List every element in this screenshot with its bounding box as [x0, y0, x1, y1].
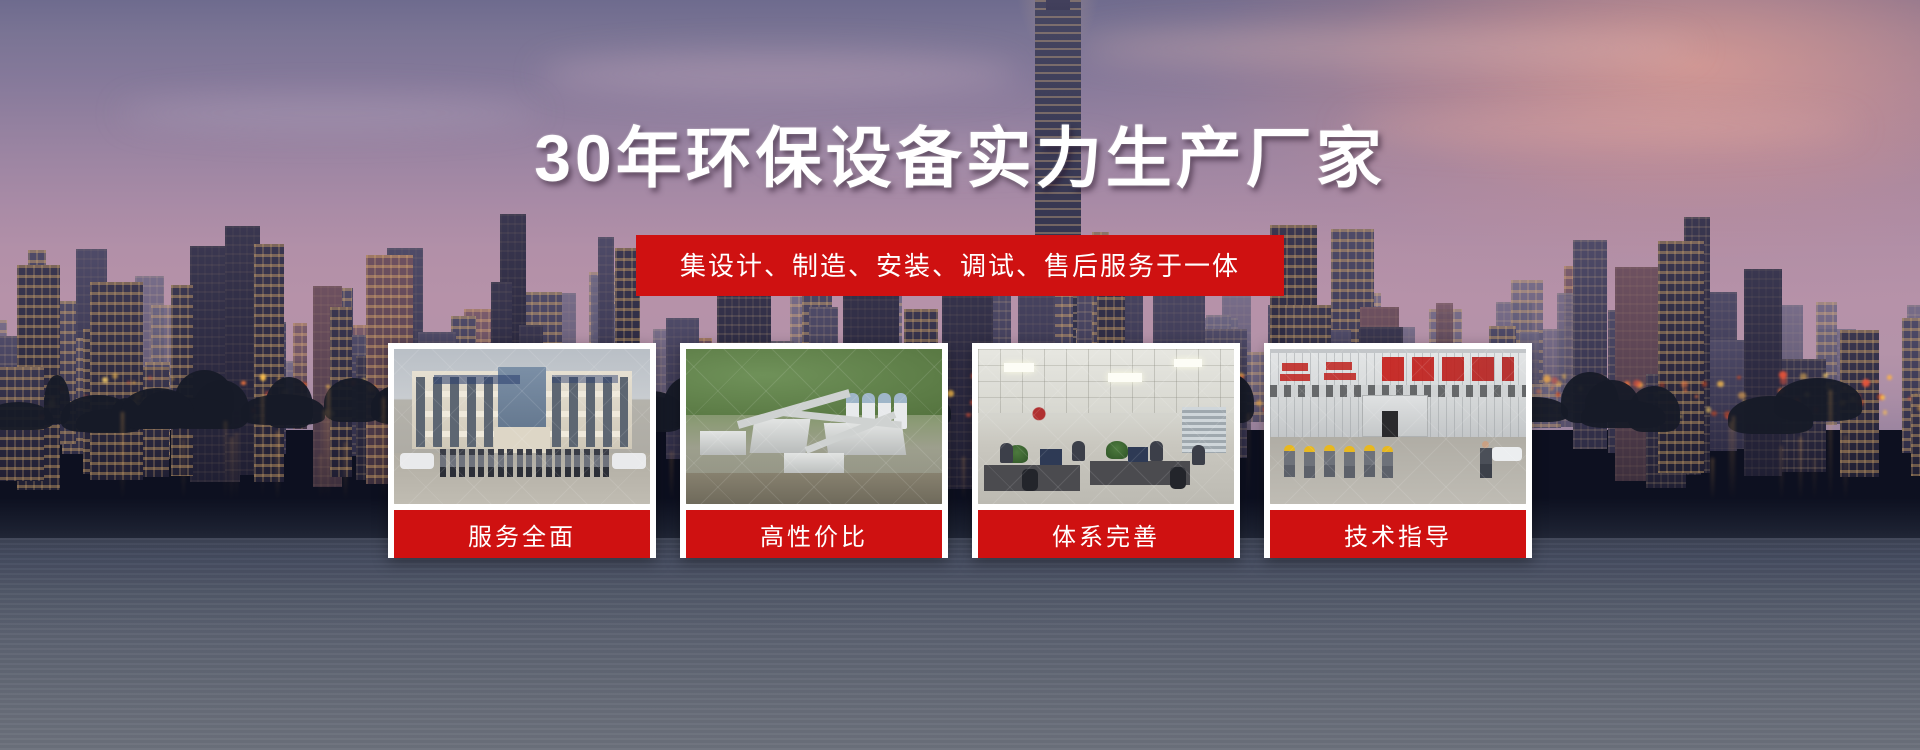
- factory-worker: [1364, 445, 1375, 477]
- card-photo-industrial-plant: [686, 349, 942, 504]
- staff-member: [488, 449, 494, 477]
- factory-doorway: [1382, 411, 1398, 437]
- wall-slogan: [1280, 374, 1310, 381]
- feature-card[interactable]: 服务全面: [388, 343, 656, 558]
- page-title: 30年环保设备实力生产厂家: [0, 105, 1920, 201]
- staff-member: [603, 449, 609, 477]
- worker-body: [1344, 452, 1355, 478]
- card-label: 高性价比: [686, 510, 942, 558]
- ceiling-light: [1174, 359, 1202, 367]
- office-worker: [1000, 443, 1013, 463]
- worker-body: [1382, 452, 1393, 478]
- staff-member: [574, 449, 580, 477]
- ceiling-light: [1004, 363, 1034, 372]
- plant-shed: [700, 431, 746, 455]
- feature-card-list: 服务全面: [0, 343, 1920, 558]
- monitor: [1040, 449, 1062, 465]
- factory-worker: [1324, 445, 1335, 477]
- staff-member: [546, 449, 552, 477]
- staff-member: [478, 449, 484, 477]
- factory-worker: [1284, 445, 1295, 477]
- subtitle-badge: 集设计、制造、安装、调试、售后服务于一体: [636, 235, 1284, 296]
- office-chair: [1022, 469, 1038, 491]
- supervisor-body: [1480, 448, 1492, 478]
- factory-worker: [1382, 446, 1393, 478]
- staff-member: [440, 449, 446, 477]
- staff-member: [469, 449, 475, 477]
- parked-car: [1492, 447, 1522, 461]
- staff-member: [594, 449, 600, 477]
- supervisor-head: [1482, 441, 1489, 448]
- feature-card[interactable]: 高性价比: [680, 343, 948, 558]
- factory-worker: [1304, 446, 1315, 478]
- hero-banner: 30年环保设备实力生产厂家 集设计、制造、安装、调试、售后服务于一体: [0, 0, 1920, 750]
- feature-card[interactable]: 技术指导: [1264, 343, 1532, 558]
- wall-slogan: [1324, 373, 1356, 380]
- card-photo-office-building: [394, 349, 650, 504]
- worker-body: [1324, 451, 1335, 477]
- worker-body: [1284, 451, 1295, 477]
- staff-member: [459, 449, 465, 477]
- plant-road: [686, 473, 942, 504]
- card-label: 技术指导: [1270, 510, 1526, 558]
- parked-car: [612, 453, 646, 469]
- ceiling-light: [1108, 373, 1142, 382]
- office-chair: [1170, 467, 1186, 489]
- staff-member: [507, 449, 513, 477]
- staff-member: [565, 449, 571, 477]
- office-window-blinds: [1182, 407, 1226, 453]
- banner-content: 30年环保设备实力生产厂家 集设计、制造、安装、调试、售后服务于一体: [0, 0, 1920, 750]
- plant-shed: [784, 453, 844, 475]
- staff-member: [450, 449, 456, 477]
- plant-shed: [750, 419, 811, 453]
- monitor: [1128, 447, 1148, 462]
- staff-member: [555, 449, 561, 477]
- factory-banner-text: [1382, 357, 1514, 381]
- building-sign-text: [434, 375, 520, 384]
- parked-car: [400, 453, 434, 469]
- wall-slogan: [1326, 362, 1352, 370]
- office-worker: [1072, 441, 1085, 461]
- staff-member: [498, 449, 504, 477]
- staff-member: [517, 449, 523, 477]
- staff-member: [584, 449, 590, 477]
- office-worker: [1192, 445, 1205, 465]
- factory-worker: [1344, 446, 1355, 478]
- factory-supervisor: [1480, 441, 1491, 478]
- card-label: 服务全面: [394, 510, 650, 558]
- feature-card[interactable]: 体系完善: [972, 343, 1240, 558]
- staff-member: [526, 449, 532, 477]
- worker-body: [1304, 452, 1315, 478]
- wall-slogan: [1282, 363, 1308, 371]
- card-label: 体系完善: [978, 510, 1234, 558]
- card-photo-office-interior: [978, 349, 1234, 504]
- wall-logo: [1026, 405, 1052, 427]
- subtitle-container: 集设计、制造、安装、调试、售后服务于一体: [0, 235, 1920, 296]
- office-worker: [1150, 441, 1163, 461]
- office-plant: [1106, 441, 1128, 459]
- worker-body: [1364, 451, 1375, 477]
- card-photo-factory-yard: [1270, 349, 1526, 504]
- staff-member: [536, 449, 542, 477]
- building-phone-text: [552, 375, 618, 383]
